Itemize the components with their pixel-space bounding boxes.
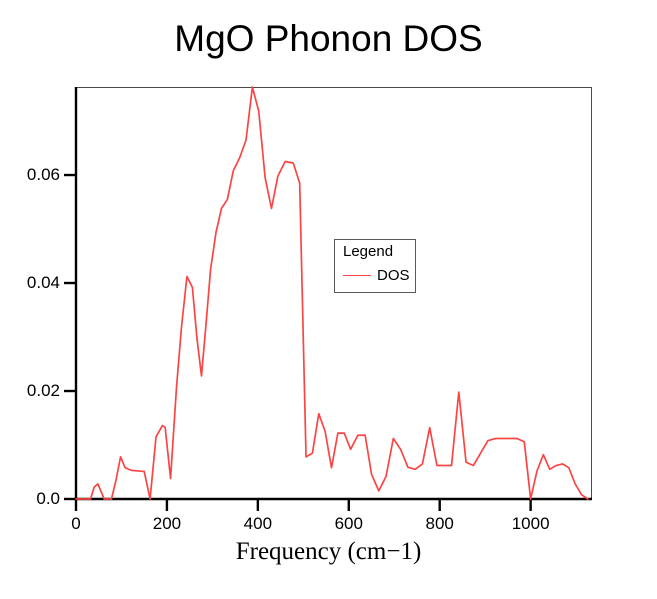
legend-color-swatch-dos: [343, 275, 371, 276]
x-tick-label: 400: [218, 514, 298, 534]
x-tick-label: 0: [36, 514, 116, 534]
plot-area: [75, 87, 592, 499]
y-tick-label: 0.0: [0, 489, 60, 509]
x-tick-label: 600: [309, 514, 389, 534]
legend-box: Legend DOS: [334, 239, 416, 293]
y-tick-label: 0.04: [0, 273, 60, 293]
y-tick-label: 0.02: [0, 381, 60, 401]
x-tick-label: 800: [400, 514, 480, 534]
x-axis-label: Frequency (cm−1): [0, 538, 657, 566]
x-tick-label: 1000: [491, 514, 571, 534]
chart-figure: MgO Phonon DOS 0.00.020.040.06 020040060…: [0, 0, 657, 599]
legend-entry-dos[interactable]: DOS: [343, 267, 410, 284]
legend-title: Legend: [343, 243, 393, 260]
chart-title: MgO Phonon DOS: [0, 18, 657, 60]
legend-entry-label-dos: DOS: [377, 267, 410, 284]
x-tick-label: 200: [127, 514, 207, 534]
y-tick-label: 0.06: [0, 165, 60, 185]
